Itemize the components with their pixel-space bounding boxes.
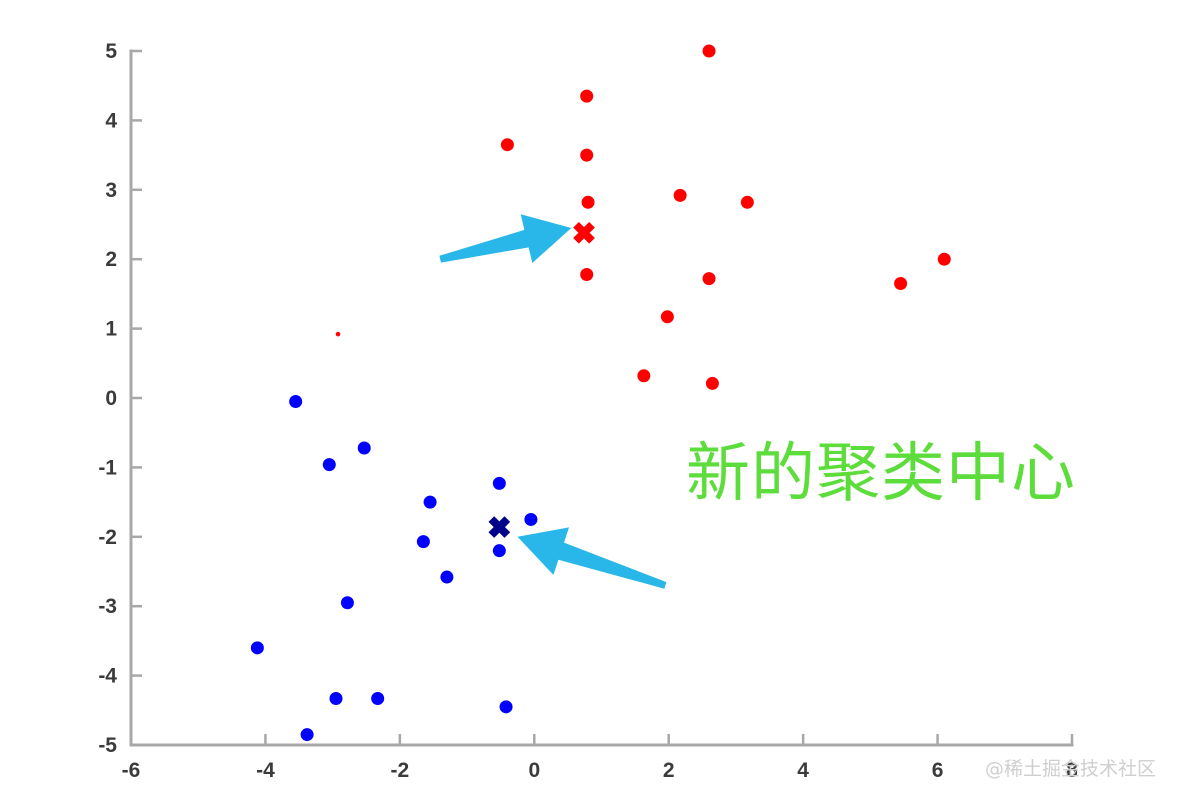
- scatter-plot: -6-4-202468 -5-4-3-2-1012345 新的聚类中心 @稀土掘…: [0, 0, 1196, 798]
- data-point: [341, 596, 354, 609]
- data-point: [440, 571, 453, 584]
- watermark: @稀土掘金技术社区: [985, 758, 1156, 780]
- data-point: [493, 544, 506, 557]
- y-tick-label: 3: [105, 179, 117, 202]
- y-tick-label: -5: [98, 734, 117, 757]
- annotation-label: 新的聚类中心: [686, 437, 1076, 511]
- arrow-to-blue-centroid: [518, 527, 667, 588]
- arrow-to-red-centroid: [439, 214, 571, 263]
- data-point: [938, 253, 951, 266]
- data-point: [371, 692, 384, 705]
- data-point: [580, 268, 593, 281]
- data-point: [580, 149, 593, 162]
- y-tick-label: -1: [98, 456, 117, 479]
- data-point: [424, 496, 437, 509]
- data-points: [251, 45, 951, 742]
- y-axis-tick-labels: -5-4-3-2-1012345: [98, 40, 117, 757]
- data-point: [500, 700, 513, 713]
- series-cluster-blue: [251, 395, 538, 741]
- data-point: [661, 310, 674, 323]
- x-tick-label: 2: [663, 759, 675, 782]
- data-point: [703, 45, 716, 58]
- y-tick-label: -4: [98, 665, 117, 688]
- data-point: [323, 458, 336, 471]
- data-point: [674, 189, 687, 202]
- data-point: [741, 196, 754, 209]
- x-tick-label: 0: [528, 759, 540, 782]
- data-point: [493, 477, 506, 490]
- centroid-red: [576, 225, 592, 241]
- annotation-arrows: [439, 214, 666, 588]
- series-cluster-red: [336, 45, 951, 390]
- data-point: [251, 641, 264, 654]
- y-tick-label: 0: [105, 387, 117, 410]
- data-point: [703, 272, 716, 285]
- data-point: [524, 513, 537, 526]
- x-tick-label: -6: [122, 759, 141, 782]
- y-tick-label: 5: [105, 40, 117, 63]
- data-point: [330, 692, 343, 705]
- data-point: [301, 728, 314, 741]
- x-tick-label: 4: [797, 759, 809, 782]
- axes: [131, 51, 1072, 745]
- x-tick-label: 6: [932, 759, 944, 782]
- y-tick-label: 2: [105, 248, 117, 271]
- x-tick-label: -2: [391, 759, 410, 782]
- figure-canvas: -6-4-202468 -5-4-3-2-1012345 新的聚类中心 @稀土掘…: [0, 0, 1196, 798]
- data-point: [417, 535, 430, 548]
- data-point: [894, 277, 907, 290]
- centroid-blue: [491, 519, 507, 535]
- cluster-centroids: [491, 225, 592, 535]
- y-tick-label: 1: [105, 318, 117, 341]
- y-tick-label: -3: [98, 595, 117, 618]
- data-point: [580, 90, 593, 103]
- data-point: [706, 377, 719, 390]
- data-point: [637, 369, 650, 382]
- data-point-small: [336, 332, 341, 337]
- data-point: [358, 441, 371, 454]
- data-point: [501, 138, 514, 151]
- data-point: [289, 395, 302, 408]
- data-point: [582, 196, 595, 209]
- x-axis-tick-labels: -6-4-202468: [122, 759, 1079, 782]
- y-tick-label: -2: [98, 526, 117, 549]
- y-tick-label: 4: [105, 109, 117, 132]
- axis-spines: [131, 51, 1072, 745]
- x-tick-label: -4: [256, 759, 275, 782]
